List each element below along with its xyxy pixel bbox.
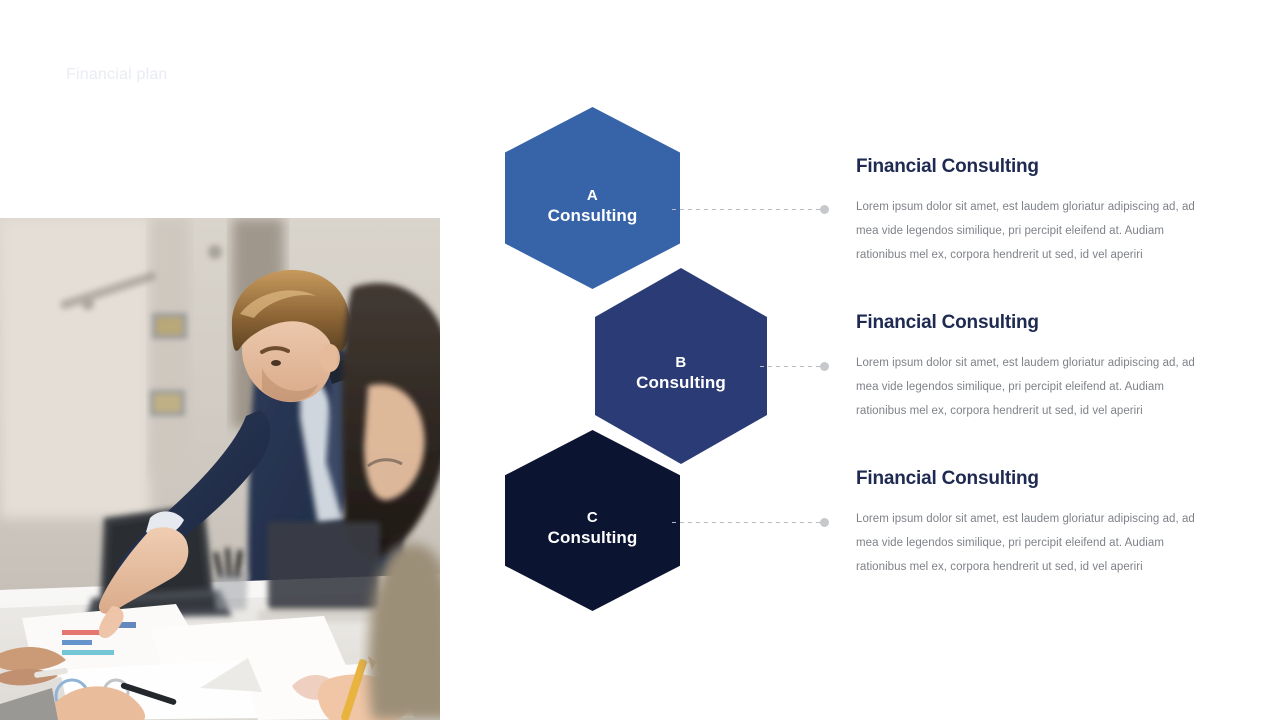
- connector-b-line: [760, 366, 820, 367]
- hexagon-c[interactable]: C Consulting: [505, 430, 680, 611]
- content-block-1-body: Lorem ipsum dolor sit amet, est laudem g…: [856, 196, 1216, 268]
- connector-a-line: [672, 209, 820, 210]
- page-title: Consulting: [64, 100, 351, 159]
- connector-c: [672, 517, 829, 527]
- hexagon-a-key: A: [548, 186, 638, 205]
- content-block-2-heading: Financial Consulting: [856, 312, 1216, 334]
- hexagon-c-key: C: [548, 508, 638, 527]
- hexagon-b-word: Consulting: [636, 372, 726, 394]
- content-block-1: Financial Consulting Lorem ipsum dolor s…: [856, 156, 1216, 268]
- connector-a-dot: [820, 205, 829, 214]
- eyebrow-label: Financial plan: [66, 66, 168, 84]
- hexagon-c-word: Consulting: [548, 527, 638, 549]
- connector-c-dot: [820, 518, 829, 527]
- hexagon-a-label: A Consulting: [548, 186, 638, 227]
- content-block-3: Financial Consulting Lorem ipsum dolor s…: [856, 468, 1216, 580]
- connector-c-line: [672, 522, 820, 523]
- hexagon-a-word: Consulting: [548, 205, 638, 227]
- hexagon-b-label: B Consulting: [636, 353, 726, 394]
- content-block-3-body: Lorem ipsum dolor sit amet, est laudem g…: [856, 508, 1216, 580]
- content-block-1-heading: Financial Consulting: [856, 156, 1216, 178]
- hexagon-b[interactable]: B Consulting: [595, 268, 767, 464]
- title-panel: Financial plan Consulting: [0, 0, 440, 218]
- hexagon-b-key: B: [636, 353, 726, 372]
- hero-photo: [0, 218, 440, 720]
- connector-a: [672, 204, 829, 214]
- hexagon-a[interactable]: A Consulting: [505, 107, 680, 289]
- content-block-3-heading: Financial Consulting: [856, 468, 1216, 490]
- connector-b-dot: [820, 362, 829, 371]
- meeting-photo-illustration: [0, 218, 440, 720]
- content-block-2-body: Lorem ipsum dolor sit amet, est laudem g…: [856, 352, 1216, 424]
- content-block-2: Financial Consulting Lorem ipsum dolor s…: [856, 312, 1216, 424]
- hexagon-c-label: C Consulting: [548, 508, 638, 549]
- connector-b: [760, 361, 829, 371]
